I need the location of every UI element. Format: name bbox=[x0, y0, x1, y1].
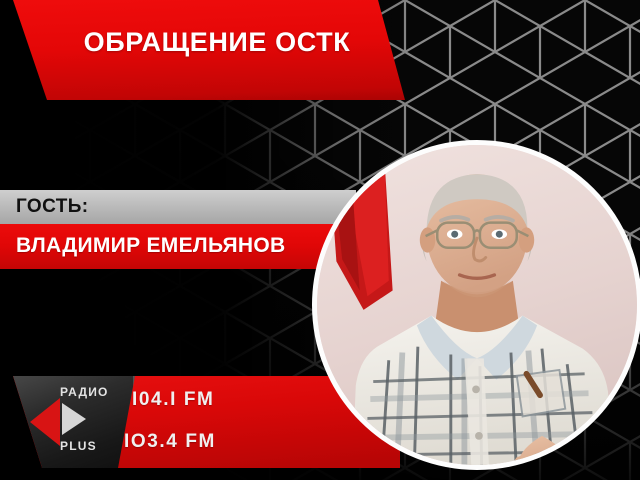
logo-word-top: РАДИО bbox=[60, 385, 109, 399]
guest-role-bar: ГОСТЬ: bbox=[0, 190, 356, 224]
logo-word-bottom: PLUS bbox=[60, 439, 97, 453]
headline-title: ОБРАЩЕНИЕ ОСТК bbox=[0, 27, 420, 58]
broadcast-lower-third-graphic: ОБРАЩЕНИЕ ОСТК ГОСТЬ: ВЛАДИМИР ЕМЕЛЬЯНОВ… bbox=[0, 0, 640, 480]
guest-name-label: ВЛАДИМИР ЕМЕЛЬЯНОВ bbox=[16, 234, 286, 258]
guest-portrait-photo bbox=[312, 140, 640, 470]
headline-banner: ОБРАЩЕНИЕ ОСТК bbox=[0, 0, 420, 100]
play-triangle-right-icon bbox=[62, 403, 86, 435]
frequency-secondary: IO3.4 FM bbox=[124, 431, 216, 453]
guest-role-label: ГОСТЬ: bbox=[16, 196, 89, 218]
guest-name-bar: ВЛАДИМИР ЕМЕЛЬЯНОВ bbox=[0, 224, 372, 269]
frequency-primary: I04.I FM bbox=[132, 389, 214, 411]
play-triangle-left-icon bbox=[30, 398, 60, 446]
radio-plus-logo: РАДИО PLUS bbox=[22, 382, 134, 464]
